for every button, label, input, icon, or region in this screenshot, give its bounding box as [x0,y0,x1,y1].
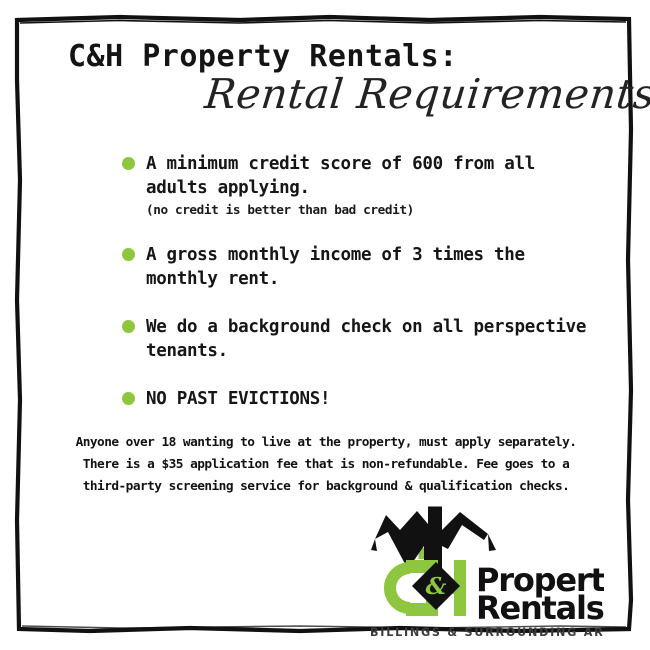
flyer-header: C&H Property Rentals: Rental Requirement… [0,40,650,120]
list-item: We do a background check on all perspect… [120,315,590,363]
logo-ampersand: & [426,573,447,600]
bullet-dot-icon [122,320,135,333]
footnote-line-3: third-party screening service for backgr… [32,476,620,498]
rental-requirements-flyer: C&H Property Rentals: Rental Requirement… [0,0,650,650]
requirement-note: (no credit is better than bad credit) [146,202,590,219]
list-item: A gross monthly income of 3 times the mo… [120,243,590,291]
bullet-dot-icon [122,248,135,261]
list-item: NO PAST EVICTIONS! [120,387,590,411]
rooftop-icon [371,507,496,570]
footnote-disclaimer: Anyone over 18 wanting to live at the pr… [32,432,620,498]
requirement-text: A gross monthly income of 3 times the mo… [146,243,590,291]
company-logo: & Property Rentals BILLINGS & SURROUNDIN… [362,506,604,642]
requirement-text: We do a background check on all perspect… [146,315,590,363]
bullet-dot-icon [122,392,135,405]
requirement-text: NO PAST EVICTIONS! [146,387,590,411]
bullet-dot-icon [122,157,135,170]
footnote-line-1: Anyone over 18 wanting to live at the pr… [32,432,620,454]
logo-word-rentals: Rentals [476,589,604,627]
requirement-text: A minimum credit score of 600 from all a… [146,152,590,200]
logo-tagline: BILLINGS & SURROUNDING AREAS [370,626,604,639]
list-item: A minimum credit score of 600 from all a… [120,152,590,219]
page-subtitle: Rental Requirements [0,69,650,120]
footnote-line-2: There is a $35 application fee that is n… [32,454,620,476]
requirements-list: A minimum credit score of 600 from all a… [120,152,590,411]
